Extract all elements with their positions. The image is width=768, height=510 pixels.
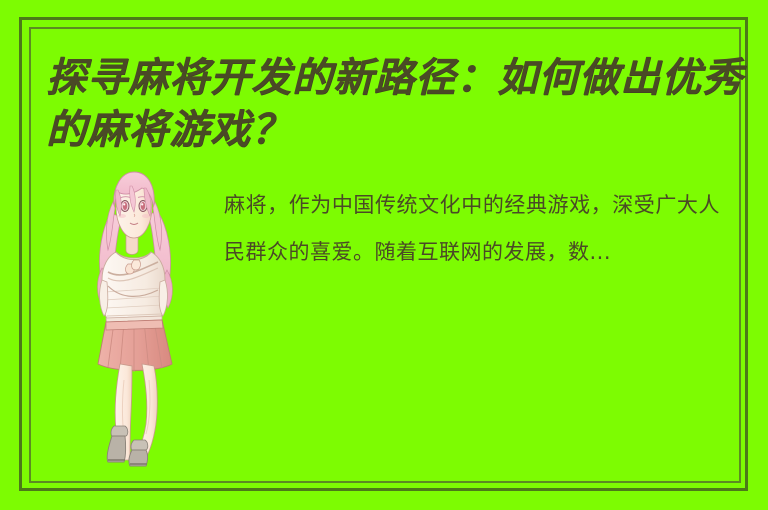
article-card: 探寻麻将开发的新路径：如何做出优秀的麻将游戏？ (0, 0, 768, 510)
anime-girl-illustration (72, 168, 192, 468)
article-title: 探寻麻将开发的新路径：如何做出优秀的麻将游戏？ (46, 52, 746, 156)
article-excerpt: 麻将，作为中国传统文化中的经典游戏，深受广大人民群众的喜爱。随着互联网的发展，数… (224, 182, 720, 276)
skirt-group (98, 320, 172, 372)
